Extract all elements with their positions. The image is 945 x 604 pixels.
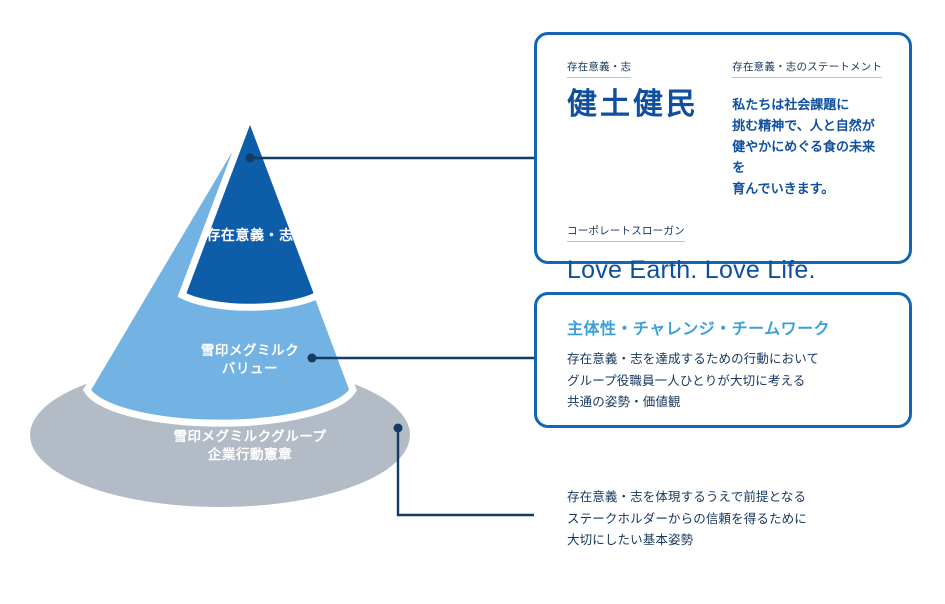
purpose-eyebrow-right: 存在意義・志のステートメント bbox=[732, 59, 882, 78]
card-value: 主体性・チャレンジ・チームワーク 存在意義・志を達成するための行動において グル… bbox=[534, 292, 912, 428]
corporate-slogan: Love Earth. Love Life. bbox=[567, 256, 883, 285]
purpose-left-column: 存在意義・志 健土健民 bbox=[567, 57, 710, 199]
slogan-eyebrow: コーポレートスローガン bbox=[567, 223, 685, 242]
purpose-columns: 存在意義・志 健土健民 存在意義・志のステートメント 私たちは社会課題に 挑む精… bbox=[567, 57, 883, 199]
cone-graphic bbox=[30, 95, 510, 545]
purpose-eyebrow-left: 存在意義・志 bbox=[567, 59, 631, 78]
purpose-title: 健土健民 bbox=[567, 88, 710, 121]
charter-body: 存在意義・志を体現するうえで前提となる ステークホルダーからの信頼を得るために … bbox=[567, 487, 883, 552]
value-body: 存在意義・志を達成するための行動において グループ役職員一人ひとりが大切に考える… bbox=[567, 349, 883, 414]
slogan-block: コーポレートスローガン Love Earth. Love Life. bbox=[567, 221, 883, 285]
pyramid-cone-diagram: 存在意義・志 雪印メグミルク バリュー 雪印メグミルクグループ 企業行動憲章 bbox=[30, 95, 510, 545]
card-charter: 存在意義・志を体現するうえで前提となる ステークホルダーからの信頼を得るために … bbox=[534, 458, 912, 570]
purpose-statement: 私たちは社会課題に 挑む精神で、人と自然が 健やかにめぐる食の未来を 育んでいき… bbox=[732, 94, 883, 199]
diagram-stage: 存在意義・志 雪印メグミルク バリュー 雪印メグミルクグループ 企業行動憲章 存… bbox=[0, 0, 945, 604]
purpose-right-column: 存在意義・志のステートメント 私たちは社会課題に 挑む精神で、人と自然が 健やか… bbox=[732, 57, 883, 199]
value-title: 主体性・チャレンジ・チームワーク bbox=[567, 315, 883, 339]
card-purpose: 存在意義・志 健土健民 存在意義・志のステートメント 私たちは社会課題に 挑む精… bbox=[534, 32, 912, 264]
